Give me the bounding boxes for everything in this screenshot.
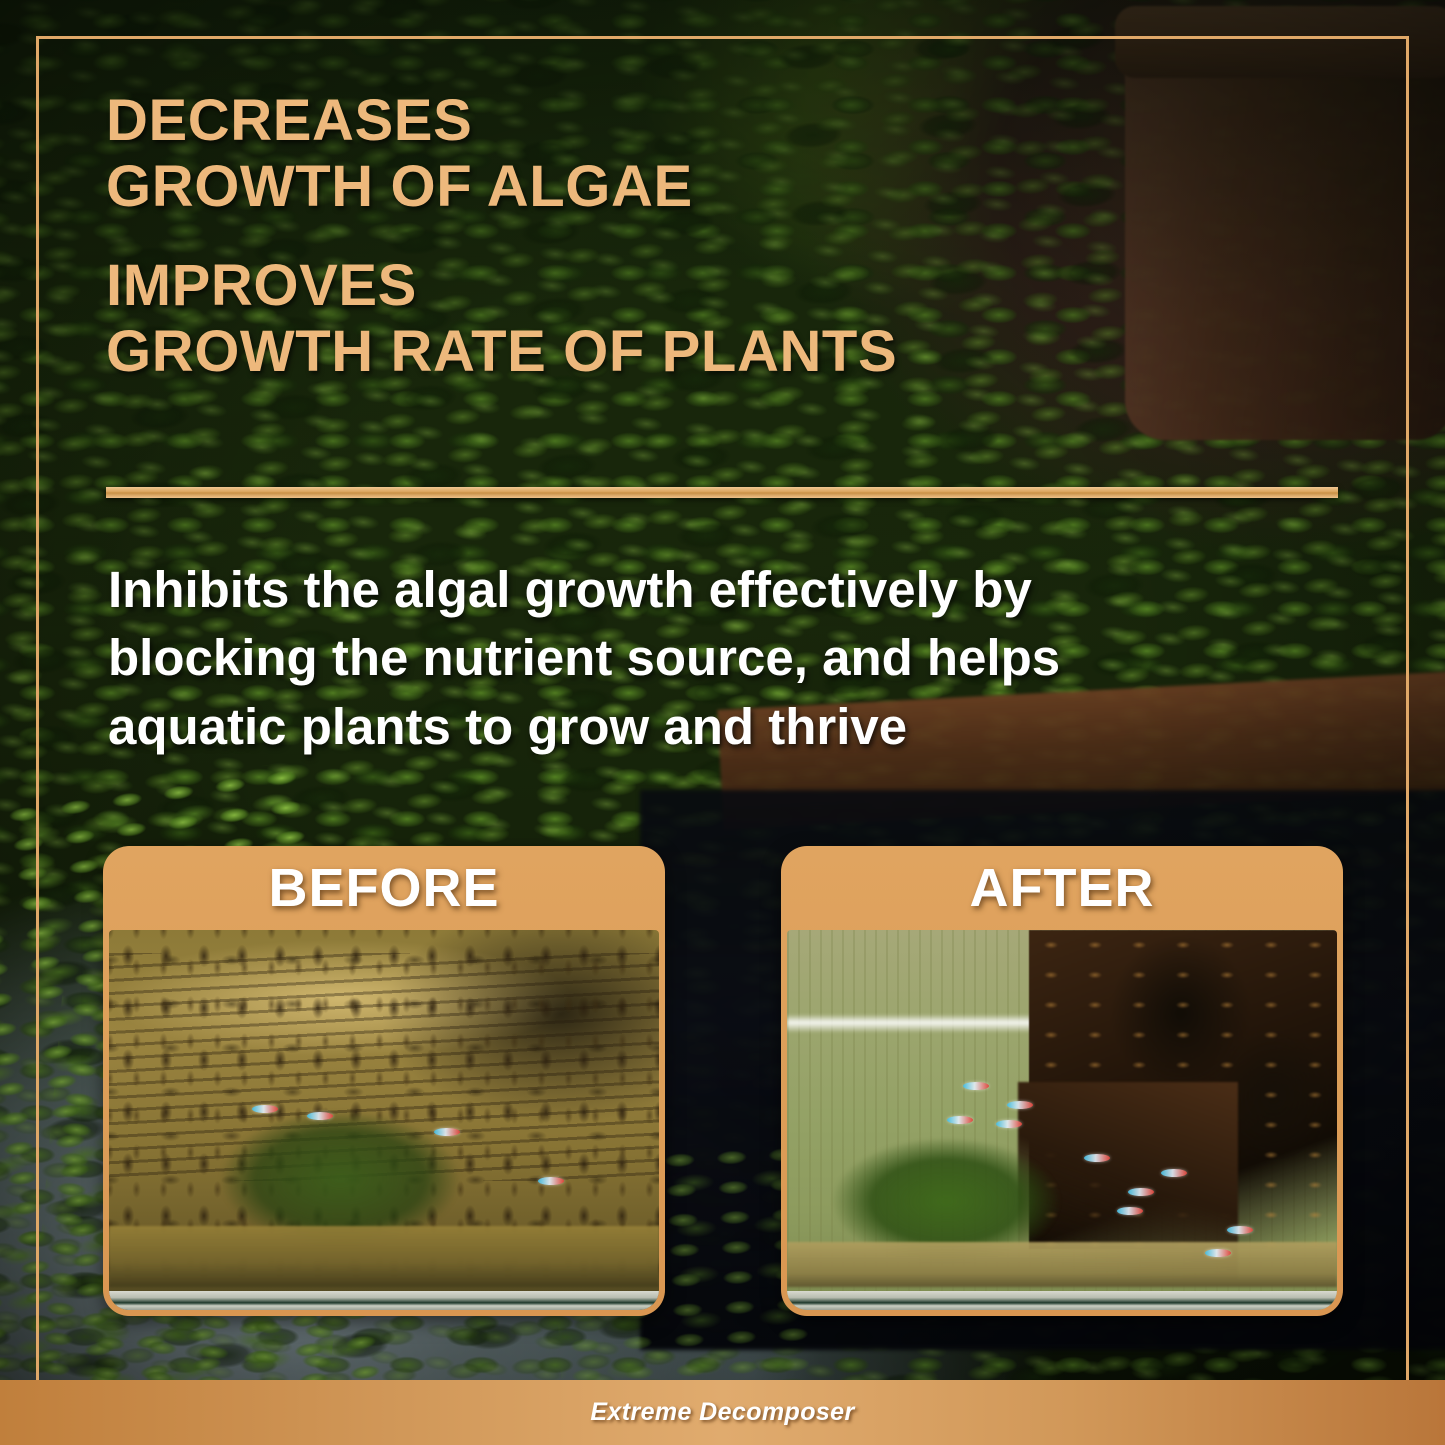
body-paragraph: Inhibits the algal growth effectively by… — [108, 556, 1338, 761]
footer-brand-text: Extreme Decomposer — [590, 1398, 854, 1427]
headline-block-decreases: DECREASES GROWTH OF ALGAE — [106, 88, 1306, 219]
after-substrate — [787, 1242, 1337, 1288]
footer-bar: Extreme Decomposer — [0, 1380, 1445, 1445]
body-line: Inhibits the algal growth effectively by — [108, 556, 1338, 624]
after-label: AFTER — [781, 846, 1343, 930]
fish — [252, 1105, 278, 1113]
before-plant-cluster — [186, 1074, 494, 1249]
fish — [538, 1177, 564, 1185]
before-label: BEFORE — [103, 846, 665, 930]
before-photo — [109, 930, 659, 1310]
poster-root: DECREASES GROWTH OF ALGAE IMPROVES GROWT… — [0, 0, 1445, 1445]
fish — [1007, 1101, 1033, 1109]
gold-divider-line — [106, 487, 1338, 498]
headline-group: DECREASES GROWTH OF ALGAE IMPROVES GROWT… — [106, 88, 1306, 384]
headline-block-improves: IMPROVES GROWTH RATE OF PLANTS — [106, 253, 1306, 384]
fish — [996, 1120, 1022, 1128]
after-card: AFTER — [781, 846, 1343, 1316]
headline-line: DECREASES — [106, 88, 1306, 154]
headline-line: GROWTH RATE OF PLANTS — [106, 319, 1306, 385]
body-line: blocking the nutrient source, and helps — [108, 624, 1338, 692]
headline-line: GROWTH OF ALGAE — [106, 154, 1306, 220]
fish — [947, 1116, 973, 1124]
before-card: BEFORE — [103, 846, 665, 1316]
before-tank-rim — [109, 1291, 659, 1310]
after-tank-rim — [787, 1291, 1337, 1310]
headline-line: IMPROVES — [106, 253, 1306, 319]
fish — [963, 1082, 989, 1090]
after-photo — [787, 930, 1337, 1310]
fish — [434, 1128, 460, 1136]
body-line: aquatic plants to grow and thrive — [108, 693, 1338, 761]
before-after-comparison: BEFORE AFTER — [0, 846, 1445, 1318]
before-substrate — [109, 1226, 659, 1287]
